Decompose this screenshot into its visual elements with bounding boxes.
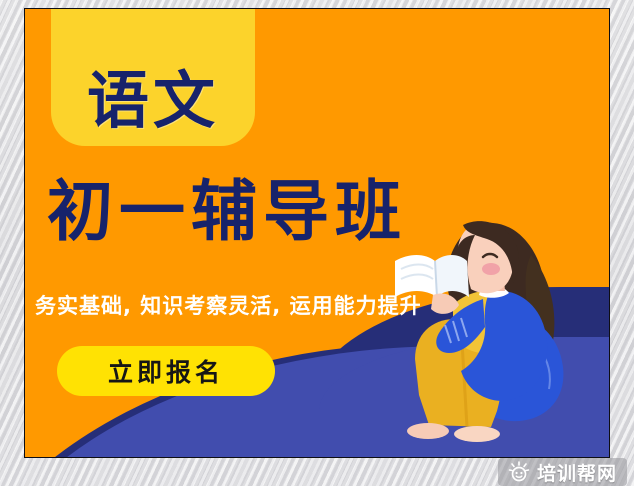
foot-left [407, 423, 449, 439]
foot-right [454, 426, 500, 442]
watermark-text: 培训帮网 [537, 459, 617, 486]
subject-badge: 语文 [51, 8, 255, 146]
enroll-now-button[interactable]: 立即报名 [57, 346, 275, 396]
sun-face-icon [508, 461, 530, 483]
book-right-page [435, 255, 469, 297]
book-left-page [395, 255, 437, 297]
page-title: 初一辅导班 [47, 179, 407, 245]
poster-subtitle: 务实基础, 知识考察灵活, 运用能力提升 [35, 296, 422, 317]
course-promo-poster: 语文 初一辅导班 务实基础, 知识考察灵活, 运用能力提升 立即报名 [24, 8, 610, 458]
cheek-blush [482, 263, 500, 275]
woman-reading-illustration [371, 195, 601, 445]
watermark: 培训帮网 [498, 458, 627, 486]
subject-badge-label: 语文 [87, 70, 219, 132]
